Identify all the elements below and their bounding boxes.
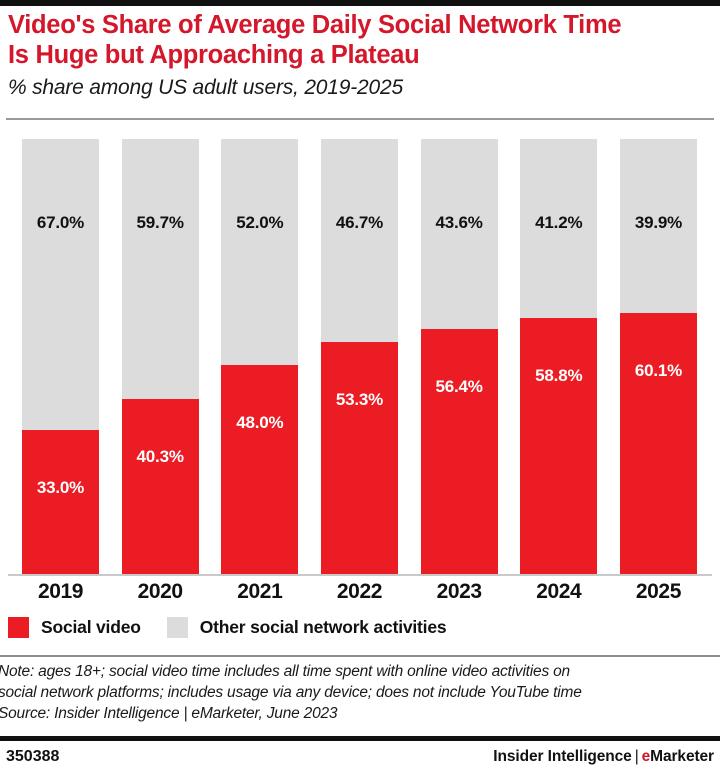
bar-column[interactable]: 67.0%33.0% — [22, 139, 99, 574]
legend-swatch-red-icon — [8, 617, 29, 638]
bar-value-label-video: 40.3% — [137, 447, 184, 467]
x-tick-label: 2019 — [22, 580, 99, 604]
brand-insider-intelligence: Insider Intelligence — [493, 748, 631, 765]
x-tick-label: 2021 — [221, 580, 298, 604]
bar-value-label-video: 33.0% — [37, 478, 84, 498]
note-line-1: Note: ages 18+; social video time includ… — [0, 661, 714, 682]
bar-value-label-video: 53.3% — [336, 390, 383, 410]
chart-legend: Social video Other social network activi… — [8, 617, 472, 638]
bar-value-label-other: 46.7% — [336, 213, 383, 233]
bar-segment-other-activities[interactable]: 43.6% — [421, 139, 498, 329]
bar-column[interactable]: 52.0%48.0% — [221, 139, 298, 574]
bar-segment-social-video[interactable]: 58.8% — [520, 318, 597, 574]
chart-card: Video's Share of Average Daily Social Ne… — [0, 0, 720, 770]
bar-segment-other-activities[interactable]: 59.7% — [122, 139, 199, 399]
bar-value-label-other: 67.0% — [37, 213, 84, 233]
brand-attribution: Insider Intelligence|eMarketer — [493, 748, 714, 766]
bar-segment-other-activities[interactable]: 46.7% — [321, 139, 398, 342]
chart-subtitle: % share among US adult users, 2019-2025 — [8, 76, 714, 100]
bar-value-label-other: 59.7% — [137, 213, 184, 233]
x-tick-label: 2022 — [321, 580, 398, 604]
bar-value-label-other: 52.0% — [236, 213, 283, 233]
bar-value-label-video: 58.8% — [535, 366, 582, 386]
plot-area: 67.0%33.0%59.7%40.3%52.0%48.0%46.7%53.3%… — [0, 139, 720, 574]
x-tick-label: 2023 — [421, 580, 498, 604]
bar-column[interactable]: 46.7%53.3% — [321, 139, 398, 574]
chart-header: Video's Share of Average Daily Social Ne… — [8, 10, 714, 100]
bar-segment-other-activities[interactable]: 41.2% — [520, 139, 597, 318]
x-tick-label: 2024 — [520, 580, 597, 604]
bar-value-label-video: 60.1% — [635, 361, 682, 381]
bar-segment-social-video[interactable]: 48.0% — [221, 365, 298, 574]
chart-notes: Note: ages 18+; social video time includ… — [0, 661, 714, 724]
bar-segment-other-activities[interactable]: 39.9% — [620, 139, 697, 313]
legend-item-other-activities[interactable]: Other social network activities — [167, 617, 447, 638]
note-source-line: Source: Insider Intelligence | eMarketer… — [0, 703, 714, 724]
bar-column[interactable]: 41.2%58.8% — [520, 139, 597, 574]
bar-segment-social-video[interactable]: 33.0% — [22, 430, 99, 574]
bar-segment-social-video[interactable]: 40.3% — [122, 399, 199, 574]
footer-divider — [0, 736, 720, 741]
brand-emarketer-marketer: Marketer — [650, 748, 714, 765]
legend-label-social-video: Social video — [41, 617, 141, 638]
bar-segment-social-video[interactable]: 60.1% — [620, 313, 697, 574]
bar-value-label-other: 39.9% — [635, 213, 682, 233]
bar-segment-social-video[interactable]: 53.3% — [321, 342, 398, 574]
top-divider — [0, 0, 720, 6]
chart-footer: 350388 Insider Intelligence|eMarketer — [0, 744, 720, 770]
chart-id: 350388 — [6, 748, 59, 766]
legend-swatch-gray-icon — [167, 617, 188, 638]
notes-divider — [0, 655, 720, 657]
bar-segment-social-video[interactable]: 56.4% — [421, 329, 498, 574]
bar-value-label-video: 48.0% — [236, 413, 283, 433]
bar-segment-other-activities[interactable]: 52.0% — [221, 139, 298, 365]
bar-value-label-other: 41.2% — [535, 213, 582, 233]
note-line-2: social network platforms; includes usage… — [0, 682, 714, 703]
brand-emarketer-e: e — [642, 748, 651, 765]
chart-title: Video's Share of Average Daily Social Ne… — [8, 10, 714, 70]
bar-group: 67.0%33.0%59.7%40.3%52.0%48.0%46.7%53.3%… — [22, 139, 697, 574]
x-tick-label: 2025 — [620, 580, 697, 604]
bar-column[interactable]: 39.9%60.1% — [620, 139, 697, 574]
brand-separator: | — [632, 748, 642, 765]
bar-value-label-video: 56.4% — [436, 377, 483, 397]
header-divider — [6, 118, 714, 120]
bar-column[interactable]: 59.7%40.3% — [122, 139, 199, 574]
bar-value-label-other: 43.6% — [436, 213, 483, 233]
x-axis-tick-labels: 2019202020212022202320242025 — [22, 580, 697, 604]
legend-item-social-video[interactable]: Social video — [8, 617, 141, 638]
x-axis-line — [8, 574, 712, 576]
legend-label-other-activities: Other social network activities — [200, 617, 447, 638]
bar-segment-other-activities[interactable]: 67.0% — [22, 139, 99, 430]
bar-column[interactable]: 43.6%56.4% — [421, 139, 498, 574]
x-tick-label: 2020 — [122, 580, 199, 604]
